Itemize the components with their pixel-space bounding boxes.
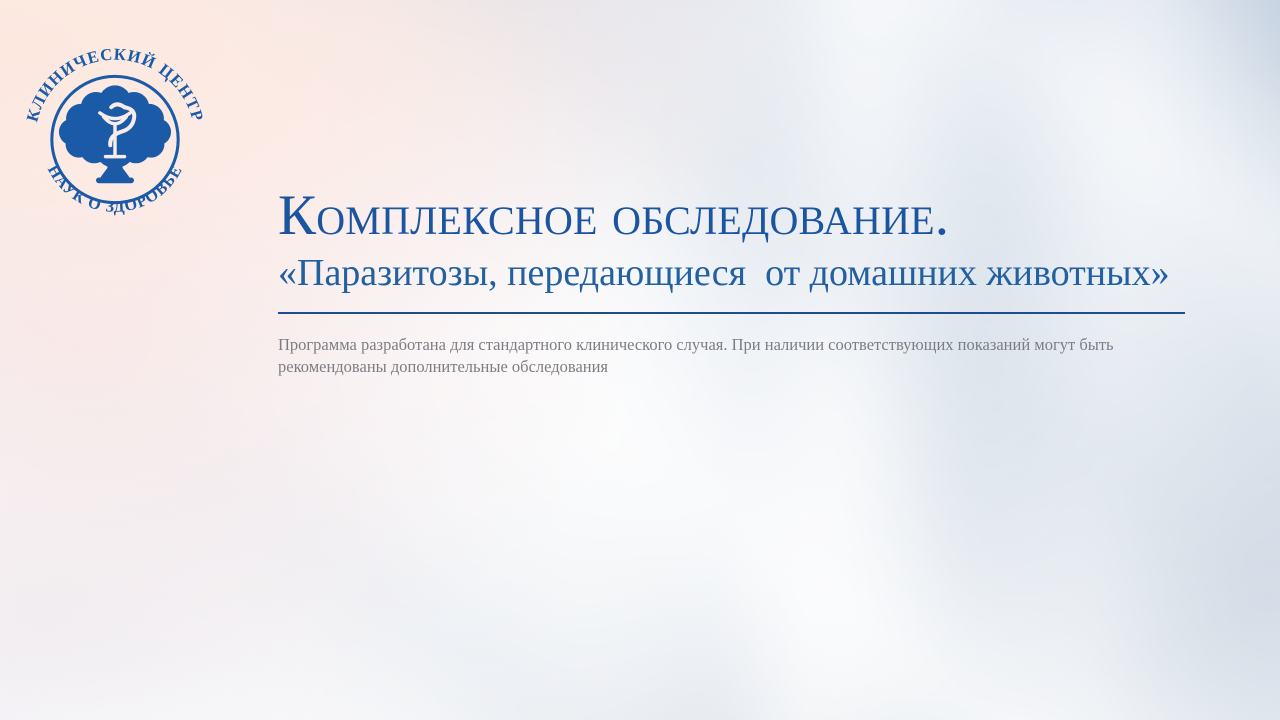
disclaimer-note: Программа разработана для стандартного к… <box>278 334 1140 380</box>
slide-content: Комплексное обследование. «Паразитозы, п… <box>278 186 1238 379</box>
title-slide: КЛИНИЧЕСКИЙ ЦЕНТР НАУК О ЗДОРОВЬЕ <box>0 0 1280 720</box>
page-subtitle: «Паразитозы, передающиеся от домашних жи… <box>278 251 1178 295</box>
logo-tree-symbol <box>59 85 171 183</box>
title-divider-rule <box>278 312 1185 314</box>
page-title: Комплексное обследование. <box>278 186 1238 245</box>
clinic-logo: КЛИНИЧЕСКИЙ ЦЕНТР НАУК О ЗДОРОВЬЕ <box>20 33 210 228</box>
